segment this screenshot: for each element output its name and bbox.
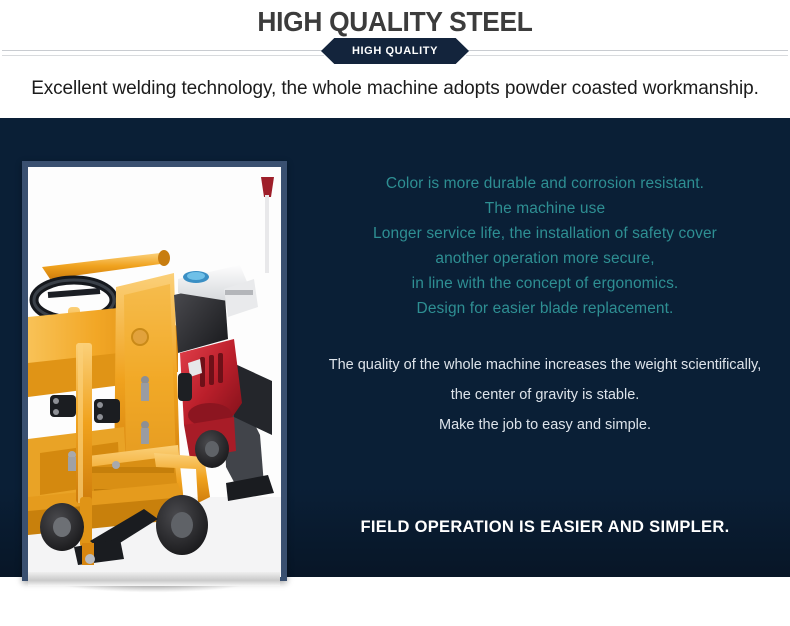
white-line: Make the job to easy and simple. xyxy=(300,410,790,440)
teal-line: Color is more durable and corrosion resi… xyxy=(300,171,790,196)
promo-banner: HIGH QUALITY STEEL HIGH QUALITY Excellen… xyxy=(0,0,790,626)
teal-line: another operation more secure, xyxy=(300,246,790,271)
divider-line-right-bottom xyxy=(466,55,788,56)
white-line: The quality of the whole machine increas… xyxy=(300,350,790,380)
teal-line: The machine use xyxy=(300,196,790,221)
road-cutter-illustration xyxy=(28,167,281,577)
status-badge: HIGH QUALITY xyxy=(321,38,469,64)
divider-line-left-bottom xyxy=(2,55,324,56)
teal-line: Longer service life, the installation of… xyxy=(300,221,790,246)
feature-list-teal: Color is more durable and corrosion resi… xyxy=(300,171,790,321)
teal-line: Design for easier blade replacement. xyxy=(300,296,790,321)
product-photo xyxy=(28,167,281,577)
page-title: HIGH QUALITY STEEL xyxy=(24,6,767,38)
divider-line-right-top xyxy=(466,50,788,51)
header-section: HIGH QUALITY STEEL HIGH QUALITY Excellen… xyxy=(0,0,790,118)
divider-line-left-top xyxy=(2,50,324,51)
photo-base-plate xyxy=(28,572,280,586)
feature-text-column: Color is more durable and corrosion resi… xyxy=(300,118,790,577)
feature-list-white: The quality of the whole machine increas… xyxy=(300,350,790,440)
white-line: the center of gravity is stable. xyxy=(300,380,790,410)
footer-tagline: FIELD OPERATION IS EASIER AND SIMPLER. xyxy=(300,518,790,537)
teal-line: in line with the concept of ergonomics. xyxy=(300,271,790,296)
subtitle-text: Excellent welding technology, the whole … xyxy=(0,78,790,100)
status-badge-label: HIGH QUALITY xyxy=(352,45,438,57)
product-photo-frame xyxy=(22,161,287,581)
